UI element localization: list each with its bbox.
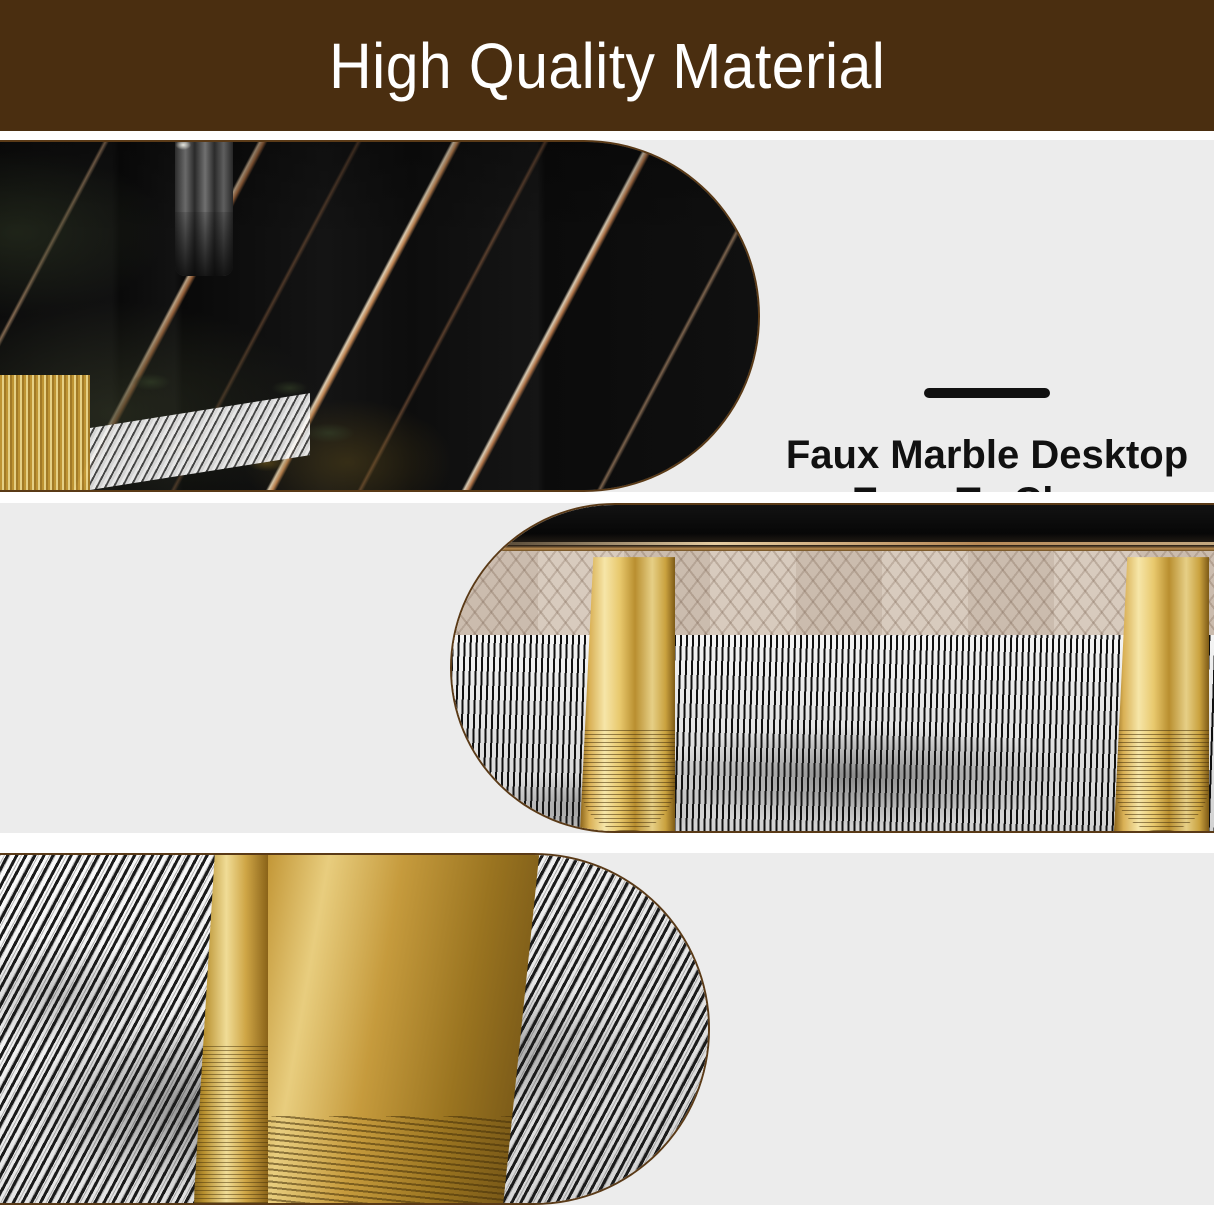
flower-vase bbox=[175, 140, 233, 276]
gray-rug bbox=[452, 635, 1214, 831]
room-scene bbox=[452, 505, 1214, 831]
table-top-edge bbox=[452, 505, 1214, 551]
feature-image-curved-table-legs bbox=[0, 853, 710, 1205]
feature-text-faux-marble-desktop: Faux Marble Desktop Easy To Clean bbox=[760, 388, 1214, 492]
rug-scene bbox=[0, 855, 708, 1203]
gold-leg-left bbox=[580, 557, 675, 831]
gold-leg-glimpse bbox=[0, 375, 90, 490]
feature-panel-faux-marble-desktop: Faux Marble Desktop Easy To Clean bbox=[0, 140, 1214, 492]
feature-image-metal-legs bbox=[450, 503, 1214, 833]
feature-caption-line2: Easy To Clean bbox=[760, 479, 1214, 492]
gold-leg-right bbox=[1114, 557, 1209, 831]
feature-image-faux-marble-desktop bbox=[0, 140, 760, 492]
feature-panel-curved-table-legs: Curved Table Legs Anti-tipping bbox=[0, 853, 1214, 1205]
feature-caption-line1: Faux Marble Desktop bbox=[760, 432, 1214, 479]
infographic-page: High Quality Material Faux Marble Deskto… bbox=[0, 0, 1214, 1214]
page-title: High Quality Material bbox=[329, 34, 885, 98]
feature-panel-metal-legs: Metal Legs Stable Support bbox=[0, 503, 1214, 833]
accent-rule bbox=[924, 388, 1050, 398]
header-banner: High Quality Material bbox=[0, 0, 1214, 131]
curved-gold-leg bbox=[240, 853, 540, 1205]
